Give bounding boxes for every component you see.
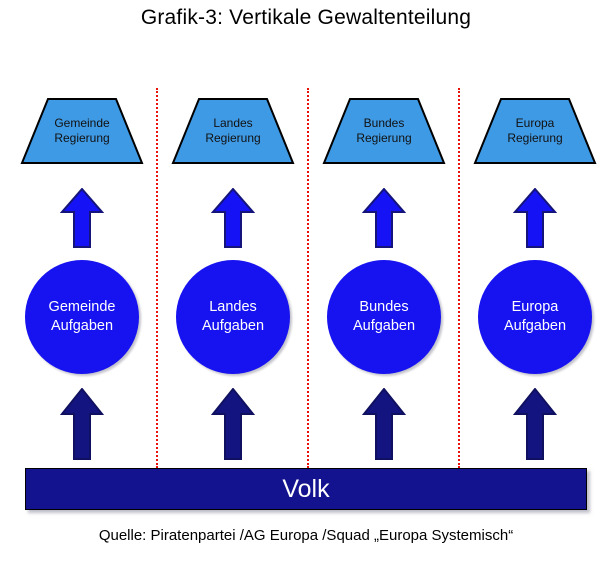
arrow-up-icon [211,188,255,248]
arrow-up-landes-tasks-to-government [211,188,255,248]
arrow-up-volk-to-gemeinde-tasks [60,388,104,460]
tasks-circle-gemeinde[interactable]: Gemeinde Aufgaben [25,260,139,374]
tasks-label-line2: Aufgaben [504,317,566,336]
government-shape-gemeinde[interactable]: Gemeinde Regierung [20,97,144,165]
arrow-up-icon [60,388,104,460]
arrow-up-icon [211,388,255,460]
tasks-label-line1: Europa [512,298,559,317]
people-bar-label: Volk [282,475,329,504]
tasks-label-line2: Aufgaben [51,317,113,336]
column-divider-1 [156,88,158,468]
trapezoid-icon [322,97,446,165]
tasks-circle-landes[interactable]: Landes Aufgaben [176,260,290,374]
column-bundes: Bundes Regierung Bundes Aufgaben [310,0,458,470]
tasks-circle-bundes[interactable]: Bundes Aufgaben [327,260,441,374]
government-shape-landes[interactable]: Landes Regierung [171,97,295,165]
column-landes: Landes Regierung Landes Aufgaben [159,0,307,470]
arrow-up-volk-to-landes-tasks [211,388,255,460]
arrow-up-bundes-tasks-to-government [362,188,406,248]
trapezoid-icon [171,97,295,165]
arrow-up-icon [513,188,557,248]
tasks-label-line1: Bundes [359,298,408,317]
arrow-up-icon [362,388,406,460]
arrow-up-icon [362,188,406,248]
arrow-up-volk-to-europa-tasks [513,388,557,460]
arrow-up-europa-tasks-to-government [513,188,557,248]
tasks-circle-europa[interactable]: Europa Aufgaben [478,260,592,374]
tasks-label-line1: Landes [209,298,257,317]
arrow-up-volk-to-bundes-tasks [362,388,406,460]
trapezoid-icon [473,97,597,165]
column-divider-3 [458,88,460,468]
arrow-up-gemeinde-tasks-to-government [60,188,104,248]
column-europa: Europa Regierung Europa Aufgaben [461,0,609,470]
tasks-label-line2: Aufgaben [353,317,415,336]
people-bar-volk[interactable]: Volk [25,468,587,510]
tasks-label-line1: Gemeinde [49,298,116,317]
government-shape-europa[interactable]: Europa Regierung [473,97,597,165]
arrow-up-icon [513,388,557,460]
column-divider-2 [307,88,309,468]
arrow-up-icon [60,188,104,248]
government-shape-bundes[interactable]: Bundes Regierung [322,97,446,165]
diagram-canvas: Grafik-3: Vertikale Gewaltenteilung Geme… [0,0,612,563]
column-gemeinde: Gemeinde Regierung Gemeinde Aufgaben [8,0,156,470]
trapezoid-icon [20,97,144,165]
tasks-label-line2: Aufgaben [202,317,264,336]
source-caption: Quelle: Piratenpartei /AG Europa /Squad … [0,527,612,544]
